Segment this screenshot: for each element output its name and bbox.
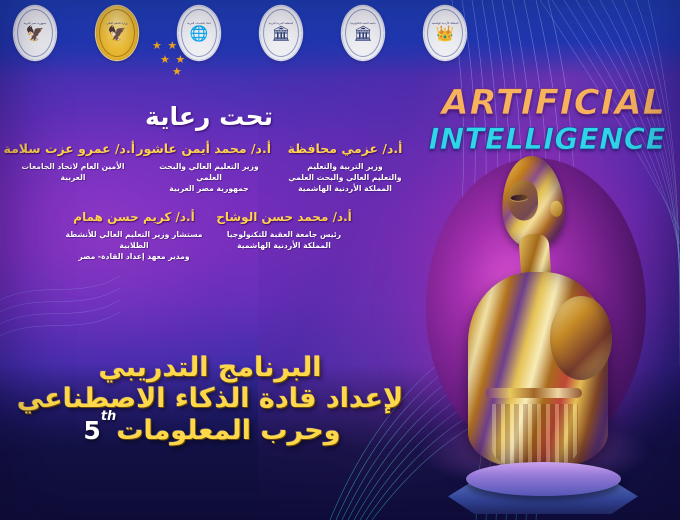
pedestal-top-disc <box>466 462 621 496</box>
patron-title: وزير التربية والتعليم والتعليم العالي وا… <box>283 161 407 194</box>
patron-name: أ.د/ محمد حسن الوشاح <box>215 210 353 224</box>
golden-ai-humanoid-bust-artwork <box>386 150 680 520</box>
robot-ear <box>550 200 563 217</box>
english-title-line-1: ARTIFICIAL <box>429 86 666 121</box>
patron-title-line: المملكة الأردنية الهاشمية <box>215 240 353 251</box>
logo-egypt-republic-emblem: جمهورية مصر العربية 🦅 <box>14 6 56 60</box>
patron-row-1: أ.د/ عزمي محافظة وزير التربية والتعليم و… <box>0 141 418 194</box>
patron-name: أ.د/ كريم حسن همام <box>65 210 203 224</box>
patron-title-line: وزير التربية والتعليم <box>283 161 407 172</box>
crown-icon: 👑 <box>436 26 455 41</box>
main-title-line-2: لإعداد قادة الذكاء الاصطناعي <box>0 383 420 414</box>
robot-face-panel <box>507 180 539 222</box>
patron-title-line: المملكة الأردنية الهاشمية <box>283 183 407 194</box>
logo-glyph: المنظمة العربية للتربية 🏛 <box>268 18 294 48</box>
patron-entry: أ.د/ محمد حسن الوشاح رئيس جامعة العقبة ل… <box>209 210 359 251</box>
logo-egypt-gold-emblem: وزارة التعليم العالي 🦅 <box>96 6 138 60</box>
patron-title-line: مستشار وزير التعليم العالي للأنشطة الطلا… <box>65 229 203 251</box>
eagle-icon: 🦅 <box>26 26 45 41</box>
robot-chest-seam <box>486 388 582 398</box>
main-title-line-1: البرنامج التدريبي <box>0 352 420 383</box>
patron-title-line: ومدير معهد إعداد القادة- مصر <box>65 251 203 262</box>
robot-shoulder <box>550 296 612 380</box>
main-title-line-3: وحرب المعلومات <box>116 415 340 446</box>
english-title-line-2: INTELLIGENCE <box>429 125 666 154</box>
star-decoration: ★ ★ ★ ★ ★ <box>152 40 244 82</box>
patronage-block: تحت رعاية أ.د/ عزمي محافظة وزير التربية … <box>0 102 418 262</box>
star-row-3: ★ <box>172 66 183 77</box>
eagle-icon: 🦅 <box>108 26 127 41</box>
english-title: ARTIFICIAL INTELLIGENCE <box>429 86 666 154</box>
patron-title-line: جمهورية مصر العربية <box>147 183 271 194</box>
patron-entry: أ.د/ عمرو عزت سلامة الأمين العام لاتحاد … <box>5 141 141 183</box>
patron-title-line: والتعليم العالي والبحث العلمي <box>283 172 407 183</box>
patron-title-line: رئيس جامعة العقبة للتكنولوجيا <box>215 229 353 240</box>
building-icon: 🏛 <box>271 26 290 41</box>
patron-entry: أ.د/ محمد أيمن عاشور وزير التعليم العالي… <box>141 141 277 194</box>
patron-title: مستشار وزير التعليم العالي للأنشطة الطلا… <box>65 229 203 262</box>
logo-glyph: وزارة التعليم العالي 🦅 <box>104 18 130 48</box>
edition-suffix: th <box>101 409 116 424</box>
main-title-line-3-wrapper: وحرب المعلومات5th <box>79 415 340 446</box>
display-pedestal <box>448 458 638 516</box>
star-row-2: ★ ★ <box>160 54 186 65</box>
patron-name: أ.د/ عزمي محافظة <box>283 141 407 156</box>
logo-glyph: جامعة العقبة للتكنولوجيا 🏛 <box>350 18 376 48</box>
patron-entry: أ.د/ عزمي محافظة وزير التربية والتعليم و… <box>277 141 413 194</box>
patron-title: الأمين العام لاتحاد الجامعات العربية <box>11 161 135 183</box>
humanoid-figure <box>458 156 618 472</box>
patron-name: أ.د/ محمد أيمن عاشور <box>147 141 271 156</box>
patron-name: أ.د/ عمرو عزت سلامة <box>11 141 135 156</box>
logo-glyph: المملكة الأردنية الهاشمية 👑 <box>432 18 458 48</box>
patron-title-line: الأمين العام لاتحاد الجامعات العربية <box>11 161 135 183</box>
conference-poster: جمهورية مصر العربية 🦅 وزارة التعليم العا… <box>0 0 680 520</box>
patron-title: وزير التعليم العالي والبحث العلمي جمهوري… <box>147 161 271 194</box>
building-icon: 🏛 <box>353 26 372 41</box>
logo-aqaba-university-emblem: جامعة العقبة للتكنولوجيا 🏛 <box>342 6 384 60</box>
logo-alecso-emblem: المنظمة العربية للتربية 🏛 <box>260 6 302 60</box>
patron-entry: أ.د/ كريم حسن همام مستشار وزير التعليم ا… <box>59 210 209 262</box>
star-row-1: ★ ★ <box>152 40 178 51</box>
edition-ordinal: 5th <box>83 416 116 445</box>
logo-jordan-hashemite-emblem: المملكة الأردنية الهاشمية 👑 <box>424 6 466 60</box>
logo-glyph: جمهورية مصر العربية 🦅 <box>22 18 48 48</box>
patronage-heading: تحت رعاية <box>0 102 418 131</box>
globe-icon: 🌐 <box>190 26 209 41</box>
patron-row-2: أ.د/ محمد حسن الوشاح رئيس جامعة العقبة ل… <box>0 210 418 262</box>
patron-title: رئيس جامعة العقبة للتكنولوجيا المملكة ال… <box>215 229 353 251</box>
edition-number: 5 <box>83 416 100 445</box>
patron-title-line: وزير التعليم العالي والبحث العلمي <box>147 161 271 183</box>
main-title: البرنامج التدريبي لإعداد قادة الذكاء الا… <box>0 352 420 446</box>
